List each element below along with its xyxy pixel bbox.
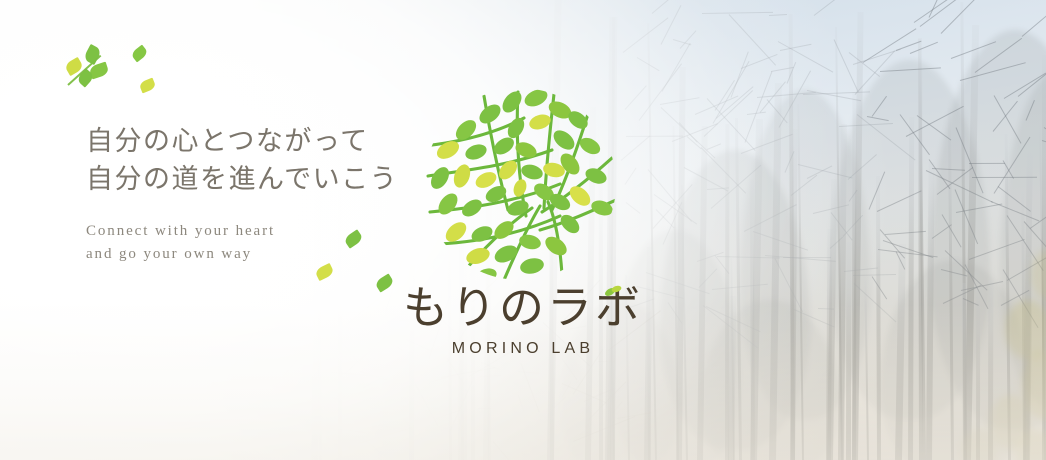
logo-latin-text: MORINO LAB [398, 340, 648, 358]
headline-line-1: 自分の心とつながって [86, 122, 398, 160]
hero-banner: 自分の心とつながって 自分の道を進んでいこう Connect with your… [0, 0, 1046, 460]
subtitle: Connect with your heart and go your own … [86, 220, 398, 266]
leafy-circle-tree-icon [420, 84, 620, 284]
logo-leaf-accent-icon [604, 284, 622, 303]
headline-line-2: 自分の道を進んでいこう [86, 160, 398, 198]
subtitle-line-2: and go your own way [86, 243, 398, 266]
hero-copy: 自分の心とつながって 自分の道を進んでいこう Connect with your… [86, 122, 398, 266]
subtitle-line-1: Connect with your heart [86, 220, 398, 243]
headline: 自分の心とつながって 自分の道を進んでいこう [86, 122, 398, 198]
logo[interactable]: もりのラボ MORINO LAB [398, 84, 648, 374]
